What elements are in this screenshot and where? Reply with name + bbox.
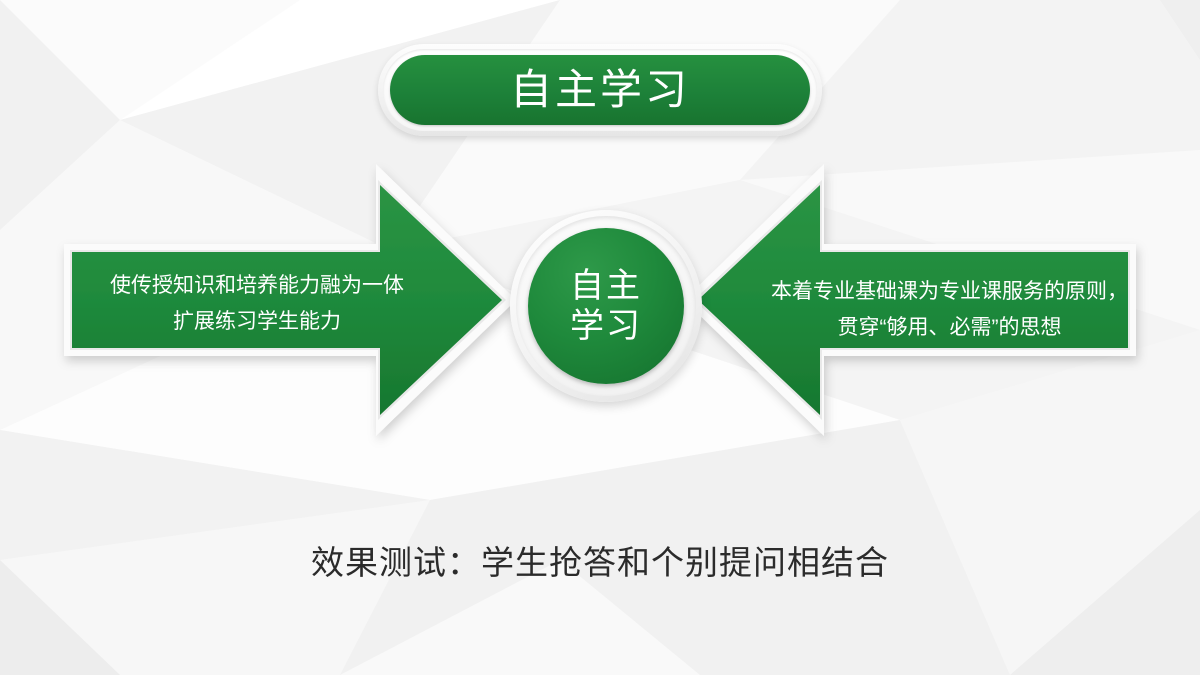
- arrow-right-label: 本着专业基础课为专业课服务的原则，贯穿“够用、必需”的思想: [762, 274, 1137, 346]
- arrow-left-line1: 使传授知识和培养能力融为一体: [72, 268, 442, 304]
- page-title: 自主学习: [510, 69, 690, 111]
- arrow-left-line2: 扩展练习学生能力: [72, 304, 442, 340]
- arrow-left-label: 使传授知识和培养能力融为一体 扩展练习学生能力: [72, 268, 442, 340]
- center-node: 自主 学习: [510, 222, 704, 388]
- bottom-caption: 效果测试：学生抢答和个别提问相结合: [0, 536, 1200, 584]
- slide-title-pill: 自主学习: [378, 44, 822, 136]
- center-node-line2: 学习: [570, 306, 642, 346]
- slide-canvas: 使传授知识和培养能力融为一体 扩展练习学生能力 本着专业基础课为专业课服务的原则…: [0, 0, 1200, 675]
- pill-inner-body: 自主学习: [390, 55, 810, 125]
- center-node-body: 自主 学习: [528, 228, 684, 384]
- center-node-line1: 自主: [570, 266, 642, 306]
